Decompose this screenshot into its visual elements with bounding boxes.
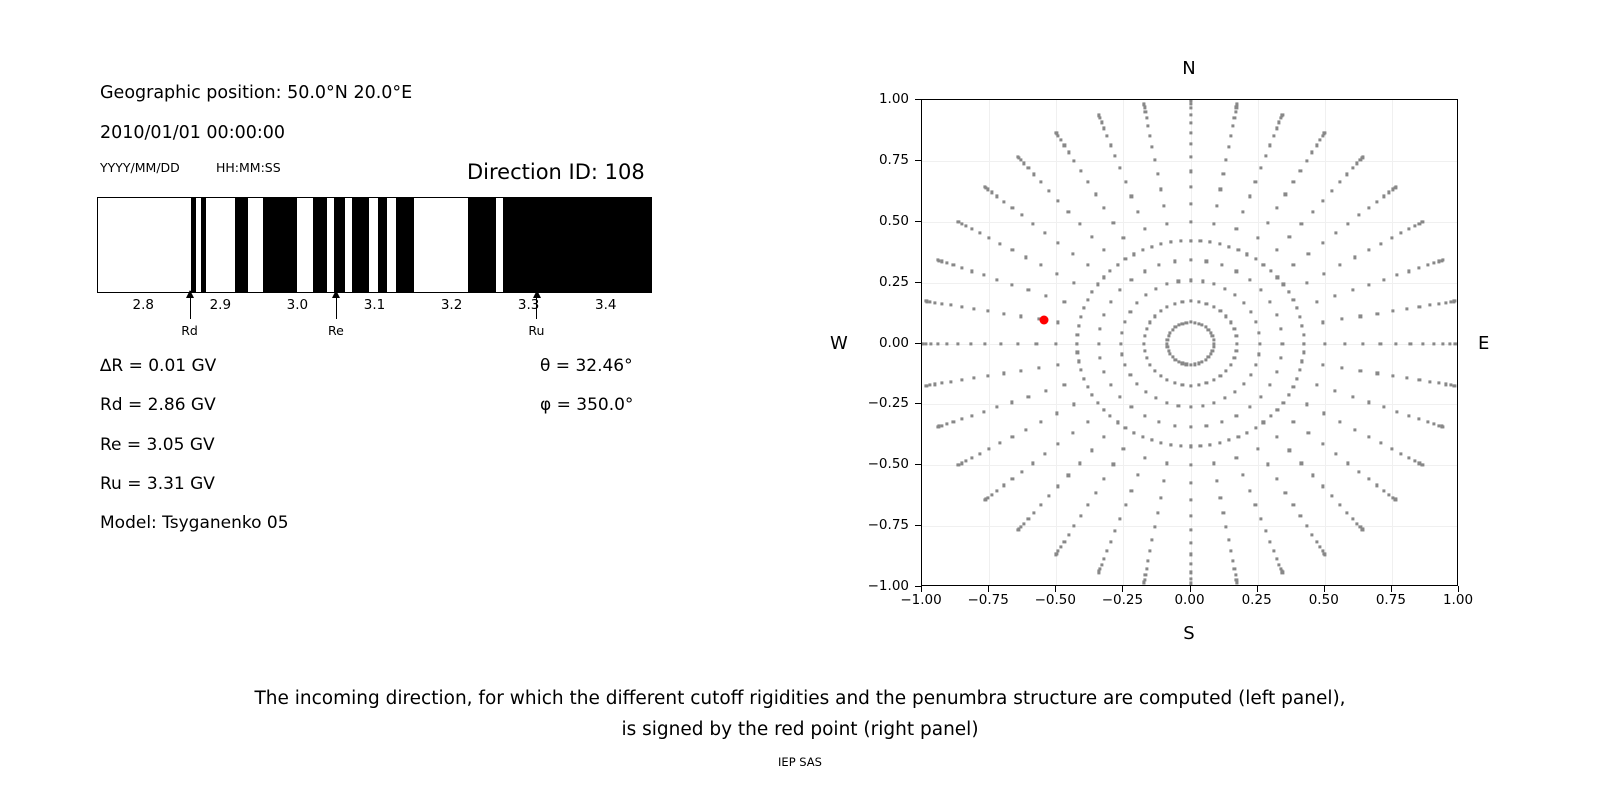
direction-dot: [1189, 363, 1192, 366]
direction-dot: [1166, 338, 1169, 341]
x-tick-label: −0.25: [1102, 592, 1143, 608]
direction-dot: [1301, 324, 1304, 327]
penumbra-band: [263, 198, 297, 292]
direction-dot: [1189, 259, 1192, 262]
direction-dot: [1169, 443, 1172, 446]
direction-dot: [1257, 331, 1260, 334]
direction-dot: [1181, 322, 1184, 325]
direction-dot: [1166, 305, 1169, 308]
direction-dot: [1346, 222, 1349, 225]
direction-dot: [1236, 342, 1239, 345]
direction-dot: [1307, 432, 1310, 435]
direction-dot: [1056, 272, 1059, 275]
direction-dot: [1091, 393, 1094, 396]
penumbra-band: [378, 198, 387, 292]
direction-dot: [1189, 185, 1192, 188]
direction-dot: [1077, 324, 1080, 327]
direction-dot: [1299, 369, 1302, 372]
y-tick-label: 1.00: [879, 91, 909, 107]
direction-dot: [1167, 349, 1170, 352]
direction-dot: [1237, 435, 1240, 438]
direction-dot: [1078, 222, 1081, 225]
y-tick-label: 0.50: [879, 213, 909, 229]
direction-dot: [1189, 170, 1192, 173]
direction-dot: [1056, 412, 1059, 415]
direction-dot: [1212, 379, 1215, 382]
penumbra-band: [313, 198, 327, 292]
compass-label-north: N: [1182, 58, 1195, 79]
direction-dot: [1323, 342, 1326, 345]
direction-dot: [1236, 102, 1239, 105]
direction-dot: [1407, 270, 1410, 273]
direction-dot: [1322, 272, 1325, 275]
direction-dot: [1457, 342, 1458, 345]
direction-dot: [1259, 395, 1262, 398]
direction-dot: [1027, 517, 1030, 520]
direction-dot: [970, 270, 973, 273]
penumbra-band: [191, 198, 196, 292]
direction-dot: [1032, 173, 1035, 176]
direction-dot: [1181, 384, 1184, 387]
direction-dot: [1448, 342, 1451, 345]
direction-dot: [1268, 300, 1271, 303]
direction-dot: [1254, 180, 1257, 183]
x-tick-label: 0.75: [1376, 592, 1406, 608]
direction-dot: [960, 266, 963, 269]
direction-dot: [960, 379, 963, 382]
direction-dot: [1024, 256, 1027, 259]
direction-dot: [986, 310, 989, 313]
direction-dot: [1359, 369, 1362, 372]
direction-dot: [1002, 200, 1005, 203]
direction-dot: [1189, 113, 1192, 116]
direction-dot: [1153, 526, 1156, 529]
penumbra-bar: [97, 197, 652, 293]
direction-dot: [1276, 408, 1279, 411]
datetime-label: 2010/01/01 00:00:00: [100, 123, 285, 143]
direction-dot: [1031, 462, 1034, 465]
direction-dot: [1421, 464, 1424, 467]
direction-dot: [1258, 342, 1261, 345]
direction-dot: [982, 274, 985, 277]
direction-dot: [1124, 180, 1127, 183]
penumbra-band: [503, 198, 652, 292]
direction-dot: [1287, 290, 1290, 293]
direction-dot: [1173, 424, 1176, 427]
figure-caption: The incoming direction, for which the di…: [0, 683, 1600, 745]
y-tick-label: −0.25: [868, 395, 909, 411]
direction-dot: [1166, 462, 1169, 465]
direction-dot: [1299, 315, 1302, 318]
gridline-horizontal: [922, 526, 1457, 527]
direction-dot: [978, 452, 981, 455]
direction-dot: [1039, 264, 1042, 267]
direction-dot: [1011, 206, 1014, 209]
direction-dot: [1169, 241, 1172, 244]
direction-dot: [1351, 517, 1354, 520]
direction-dot: [1151, 145, 1154, 148]
direction-dot: [1276, 276, 1279, 279]
selected-direction-point: [1040, 316, 1049, 325]
direction-dot: [1305, 403, 1308, 406]
direction-dot: [1246, 431, 1249, 434]
x-tick-label: −1.00: [900, 592, 941, 608]
direction-dot: [1224, 287, 1227, 290]
direction-dot: [1039, 180, 1042, 183]
direction-dot: [1433, 422, 1436, 425]
direction-dot: [1189, 425, 1192, 428]
direction-dot: [1275, 435, 1278, 438]
direction-dot: [1406, 377, 1409, 380]
direction-dot: [1367, 401, 1370, 404]
direction-dot: [1218, 441, 1221, 444]
y-tick-label: 0.25: [879, 274, 909, 290]
x-tick-label: −0.50: [1035, 592, 1076, 608]
direction-dot: [1189, 498, 1192, 501]
direction-dot: [1189, 577, 1192, 580]
direction-dot: [1157, 264, 1160, 267]
direction-dot: [1212, 305, 1215, 308]
direction-dot: [1396, 274, 1399, 277]
direction-dot: [1165, 401, 1168, 404]
direction-dot: [996, 195, 999, 198]
direction-dot: [1315, 540, 1318, 543]
direction-dot: [1109, 384, 1112, 387]
direction-dot: [1346, 462, 1349, 465]
direction-dot: [1204, 358, 1207, 361]
direction-dot: [1319, 546, 1322, 549]
direction-dot: [1143, 270, 1146, 273]
direction-dot: [1159, 496, 1162, 499]
penumbra-band: [396, 198, 414, 292]
direction-dot: [1073, 525, 1076, 528]
direction-dot: [1382, 195, 1385, 198]
direction-dot: [1361, 528, 1364, 531]
direction-dot: [1220, 264, 1223, 267]
direction-dot: [1189, 445, 1192, 448]
penumbra-band: [201, 198, 206, 292]
direction-dot: [1444, 301, 1447, 304]
direction-dot: [1119, 342, 1122, 345]
direction-dot: [1189, 464, 1192, 467]
direction-dot: [1103, 313, 1106, 316]
direction-dot: [1382, 406, 1385, 409]
x-tick-label: 0.50: [1309, 592, 1339, 608]
direction-dot: [1229, 321, 1232, 324]
direction-dot: [1106, 135, 1109, 138]
direction-dot: [1077, 360, 1080, 363]
direction-dot: [1189, 102, 1192, 105]
direction-dot: [1132, 431, 1135, 434]
direction-dot: [1375, 200, 1378, 203]
direction-dot: [1059, 546, 1062, 549]
direction-dot: [1259, 167, 1262, 170]
direction-dot: [1144, 110, 1147, 113]
direction-dot: [1268, 384, 1271, 387]
direction-dot: [1321, 443, 1324, 446]
direction-dot: [1149, 321, 1152, 324]
direction-dot: [1315, 300, 1318, 303]
caption-line-1: The incoming direction, for which the di…: [0, 683, 1600, 714]
direction-dot: [1367, 206, 1370, 209]
direction-dot: [956, 464, 959, 467]
direction-dot: [1189, 279, 1192, 282]
gridline-horizontal: [922, 283, 1457, 284]
direction-dot: [1441, 425, 1444, 428]
direction-dot: [1116, 263, 1119, 266]
compass-label-west: W: [830, 333, 848, 354]
y-tick-mark: [915, 343, 921, 344]
y-tick-mark: [915, 282, 921, 283]
direction-dot: [1022, 522, 1025, 525]
direction-dot: [1367, 435, 1370, 438]
direction-dot: [1351, 167, 1354, 170]
direction-dot: [1227, 538, 1230, 541]
direction-dot: [1097, 113, 1100, 116]
direction-dot: [990, 191, 993, 194]
direction-dot: [1391, 374, 1394, 377]
direction-dot: [1414, 460, 1417, 463]
direction-dot: [969, 342, 972, 345]
direction-dot: [960, 305, 963, 308]
direction-dot: [1321, 241, 1324, 244]
direction-dot: [1272, 549, 1275, 552]
direction-dot: [1264, 154, 1267, 157]
direction-dot: [1235, 270, 1238, 273]
direction-dot: [1338, 503, 1341, 506]
direction-dot: [929, 384, 932, 387]
direction-dot: [1322, 412, 1325, 415]
direction-dot: [1235, 106, 1238, 109]
direction-dot: [1086, 298, 1089, 301]
direction-dot: [1338, 264, 1341, 267]
direction-dot: [1189, 321, 1192, 324]
direction-dot: [1218, 243, 1221, 246]
direction-dot: [1287, 393, 1290, 396]
direction-dot: [1189, 514, 1192, 517]
penumbra-tick-label: 2.8: [133, 297, 154, 313]
direction-dot: [1288, 235, 1291, 238]
direction-dot: [1100, 563, 1103, 566]
direction-dot: [1275, 249, 1278, 252]
direction-dot: [1103, 249, 1106, 252]
penumbra-marker-arrow: [536, 291, 537, 319]
direction-dot: [924, 342, 927, 345]
direction-dot: [1076, 333, 1079, 336]
y-tick-label: −0.75: [868, 517, 909, 533]
direction-dot: [1429, 380, 1432, 383]
date-format-hint: YYYY/MM/DD: [100, 160, 180, 175]
direction-dot: [1248, 406, 1251, 409]
penumbra-marker-label: Rd: [181, 323, 198, 338]
direction-dot: [1079, 169, 1082, 172]
direction-dot: [1281, 571, 1284, 574]
direction-dot: [1359, 315, 1362, 318]
direction-dot: [1086, 503, 1089, 506]
direction-dot: [1079, 315, 1082, 318]
penumbra-tick-label: 2.9: [210, 297, 231, 313]
direction-dot: [1174, 358, 1177, 361]
gridline-horizontal: [922, 344, 1457, 345]
direction-dot: [1143, 335, 1146, 338]
x-tick-mark: [988, 586, 989, 592]
direction-dot: [1039, 420, 1042, 423]
direction-dot: [1205, 382, 1208, 385]
direction-dot: [1079, 369, 1082, 372]
direction-dot: [1296, 307, 1299, 310]
direction-dot: [1345, 173, 1348, 176]
direction-dot: [1219, 496, 1222, 499]
direction-dot: [1094, 491, 1097, 494]
direction-dot: [940, 382, 943, 385]
direction-dot: [1233, 117, 1236, 120]
direction-dot: [1205, 424, 1208, 427]
penumbra-marker-arrow: [336, 291, 337, 319]
direction-dot: [1071, 252, 1074, 255]
direction-dot: [1279, 327, 1282, 330]
direction-dot: [1116, 421, 1119, 424]
direction-dot: [1145, 356, 1148, 359]
sky-map-plot: [921, 99, 1458, 586]
direction-dot: [1201, 360, 1204, 363]
direction-dot: [1421, 342, 1424, 345]
direction-dot: [1330, 495, 1333, 498]
direction-dot: [988, 447, 991, 450]
direction-dot: [1119, 395, 1122, 398]
penumbra-tick-label: 3.2: [441, 297, 462, 313]
direction-dot: [1173, 382, 1176, 385]
direction-dot: [1225, 315, 1228, 318]
direction-dot: [1235, 335, 1238, 338]
x-tick-label: 0.25: [1242, 592, 1272, 608]
direction-dot: [970, 456, 973, 459]
penumbra-tick-label: 3.4: [595, 297, 616, 313]
direction-dot: [1076, 351, 1079, 354]
direction-dot: [1035, 342, 1038, 345]
direction-dot: [1406, 307, 1409, 310]
direction-dot: [1002, 312, 1005, 315]
direction-dot: [1189, 405, 1192, 408]
direction-dot: [1032, 511, 1035, 514]
direction-dot: [1103, 370, 1106, 373]
direction-dot: [1278, 563, 1281, 566]
direction-dot: [1043, 453, 1046, 456]
direction-dot: [1395, 185, 1398, 188]
direction-dot: [1120, 353, 1123, 356]
delta-r-value: ∆R = 0.01 GV: [100, 356, 216, 376]
direction-dot: [1124, 320, 1127, 323]
penumbra-axis: 2.82.93.03.13.23.33.4RdReRu: [97, 293, 652, 353]
direction-dot: [1228, 439, 1231, 442]
direction-dot: [1073, 403, 1076, 406]
direction-dot: [1169, 331, 1172, 334]
direction-dot: [1229, 363, 1232, 366]
direction-dot: [1376, 372, 1379, 375]
direction-dot: [1343, 342, 1346, 345]
direction-dot: [1011, 477, 1014, 480]
direction-dot: [1044, 390, 1047, 393]
direction-dot: [921, 342, 924, 345]
direction-dot: [1301, 360, 1304, 363]
direction-dot: [1222, 172, 1225, 175]
direction-dot: [1103, 206, 1106, 209]
direction-dot: [983, 498, 986, 501]
direction-dot: [1376, 312, 1379, 315]
direction-dot: [1281, 113, 1284, 116]
direction-dot: [1231, 559, 1234, 562]
gridline-vertical: [1123, 100, 1124, 585]
direction-dot: [1189, 142, 1192, 145]
direction-dot: [1189, 131, 1192, 134]
direction-dot: [1256, 236, 1259, 239]
direction-dot: [1109, 415, 1112, 418]
direction-dot: [1055, 342, 1058, 345]
direction-dot: [1166, 342, 1169, 345]
direction-dot: [1254, 363, 1257, 366]
direction-dot: [1179, 444, 1182, 447]
direction-dot: [1311, 533, 1314, 536]
gridline-vertical: [989, 100, 990, 585]
y-tick-mark: [915, 464, 921, 465]
rd-value: Rd = 2.86 GV: [100, 395, 216, 415]
direction-dot: [1189, 107, 1192, 110]
direction-dot: [1156, 172, 1159, 175]
direction-dot: [1199, 444, 1202, 447]
direction-dot: [996, 406, 999, 409]
direction-dot: [1209, 241, 1212, 244]
penumbra-marker-label: Re: [328, 323, 344, 338]
direction-dot: [1145, 567, 1148, 570]
direction-dot: [1031, 222, 1034, 225]
direction-dot: [1043, 231, 1046, 234]
direction-dot: [1213, 283, 1216, 286]
direction-dot: [1130, 195, 1133, 198]
direction-dot: [1149, 134, 1152, 137]
direction-dot: [1407, 414, 1410, 417]
direction-dot: [1433, 261, 1436, 264]
direction-dot: [1106, 549, 1109, 552]
direction-dot: [1055, 131, 1058, 134]
direction-dot: [933, 383, 936, 386]
penumbra-tick-label: 3.1: [364, 297, 385, 313]
direction-dot: [1345, 511, 1348, 514]
direction-dot: [1109, 300, 1112, 303]
direction-dot: [1063, 144, 1066, 147]
right-panel: N S W E −1.00−0.75−0.50−0.250.000.250.50…: [830, 40, 1530, 660]
direction-dot: [1275, 557, 1278, 560]
direction-dot: [1395, 498, 1398, 501]
direction-dot: [1130, 278, 1133, 281]
direction-dot: [1307, 252, 1310, 255]
direction-dot: [1311, 210, 1314, 213]
direction-dot: [1212, 222, 1215, 225]
direction-dot: [1067, 151, 1070, 154]
direction-dot: [1302, 333, 1305, 336]
direction-dot: [1216, 479, 1219, 482]
direction-dot: [1281, 342, 1284, 345]
direction-dot: [1057, 443, 1060, 446]
direction-dot: [978, 232, 981, 235]
direction-dot: [1142, 342, 1145, 345]
direction-dot: [1057, 199, 1060, 202]
direction-dot: [1235, 227, 1238, 230]
direction-dot: [1037, 366, 1040, 369]
direction-dot: [1067, 210, 1070, 213]
y-tick-mark: [915, 160, 921, 161]
direction-dot: [1109, 144, 1112, 147]
direction-dot: [1235, 414, 1238, 417]
direction-dot: [1097, 571, 1100, 574]
